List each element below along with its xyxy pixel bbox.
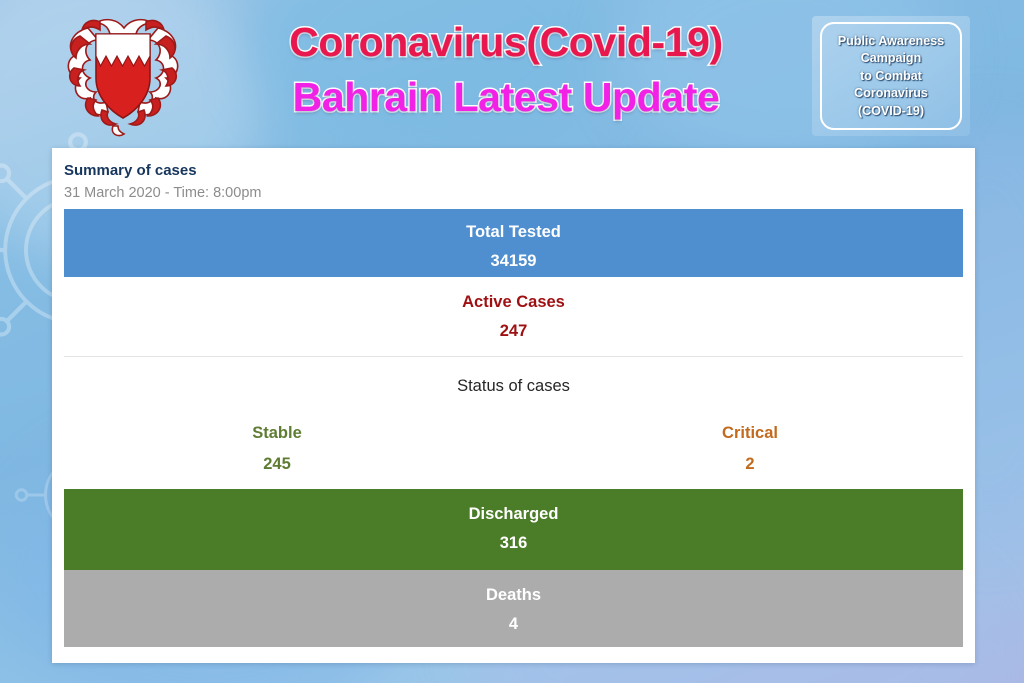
awareness-line-3: to Combat xyxy=(860,68,922,85)
stat-band-active-cases: Active Cases 247 xyxy=(64,277,963,357)
bahrain-coat-of-arms xyxy=(58,6,188,141)
status-column-critical: Critical 2 xyxy=(705,424,795,474)
title-line-2: Bahrain Latest Update xyxy=(226,77,786,118)
critical-value: 2 xyxy=(705,455,795,474)
summary-card: Summary of cases 31 March 2020 - Time: 8… xyxy=(52,148,975,663)
page-title: Summary of cases xyxy=(64,162,975,179)
status-of-cases-label: Status of cases xyxy=(64,377,963,396)
total-tested-value: 34159 xyxy=(64,252,963,270)
deaths-value: 4 xyxy=(64,615,963,633)
active-cases-value: 247 xyxy=(64,322,963,340)
poster-canvas: Coronavirus(Covid-19) Bahrain Latest Upd… xyxy=(0,0,1024,683)
status-columns: Stable 245 Critical 2 xyxy=(64,424,963,474)
discharged-value: 316 xyxy=(64,534,963,552)
summary-card-header: Summary of cases 31 March 2020 - Time: 8… xyxy=(52,148,975,209)
status-column-stable: Stable 245 xyxy=(232,424,322,474)
stat-band-total-tested: Total Tested 34159 xyxy=(64,209,963,277)
awareness-line-4: Coronavirus xyxy=(854,85,928,102)
awareness-line-5: (COVID-19) xyxy=(858,103,924,120)
stable-value: 245 xyxy=(232,455,322,474)
active-cases-label: Active Cases xyxy=(64,293,963,311)
stat-band-discharged: Discharged 316 xyxy=(64,489,963,570)
stat-band-status-of-cases: Status of cases Stable 245 Critical 2 xyxy=(64,357,963,489)
awareness-line-2: Campaign xyxy=(861,50,921,67)
stable-label: Stable xyxy=(232,424,322,443)
awareness-line-1: Public Awareness xyxy=(838,33,944,50)
stats-bands: Total Tested 34159 Active Cases 247 Stat… xyxy=(52,209,975,659)
critical-label: Critical xyxy=(705,424,795,443)
poster-title: Coronavirus(Covid-19) Bahrain Latest Upd… xyxy=(226,22,786,118)
discharged-label: Discharged xyxy=(64,505,963,523)
public-awareness-badge: Public Awareness Campaign to Combat Coro… xyxy=(820,22,962,130)
deaths-label: Deaths xyxy=(64,586,963,604)
timestamp-label: 31 March 2020 - Time: 8:00pm xyxy=(64,185,975,201)
title-line-1: Coronavirus(Covid-19) xyxy=(226,22,786,63)
total-tested-label: Total Tested xyxy=(64,223,963,241)
stat-band-deaths: Deaths 4 xyxy=(64,570,963,647)
